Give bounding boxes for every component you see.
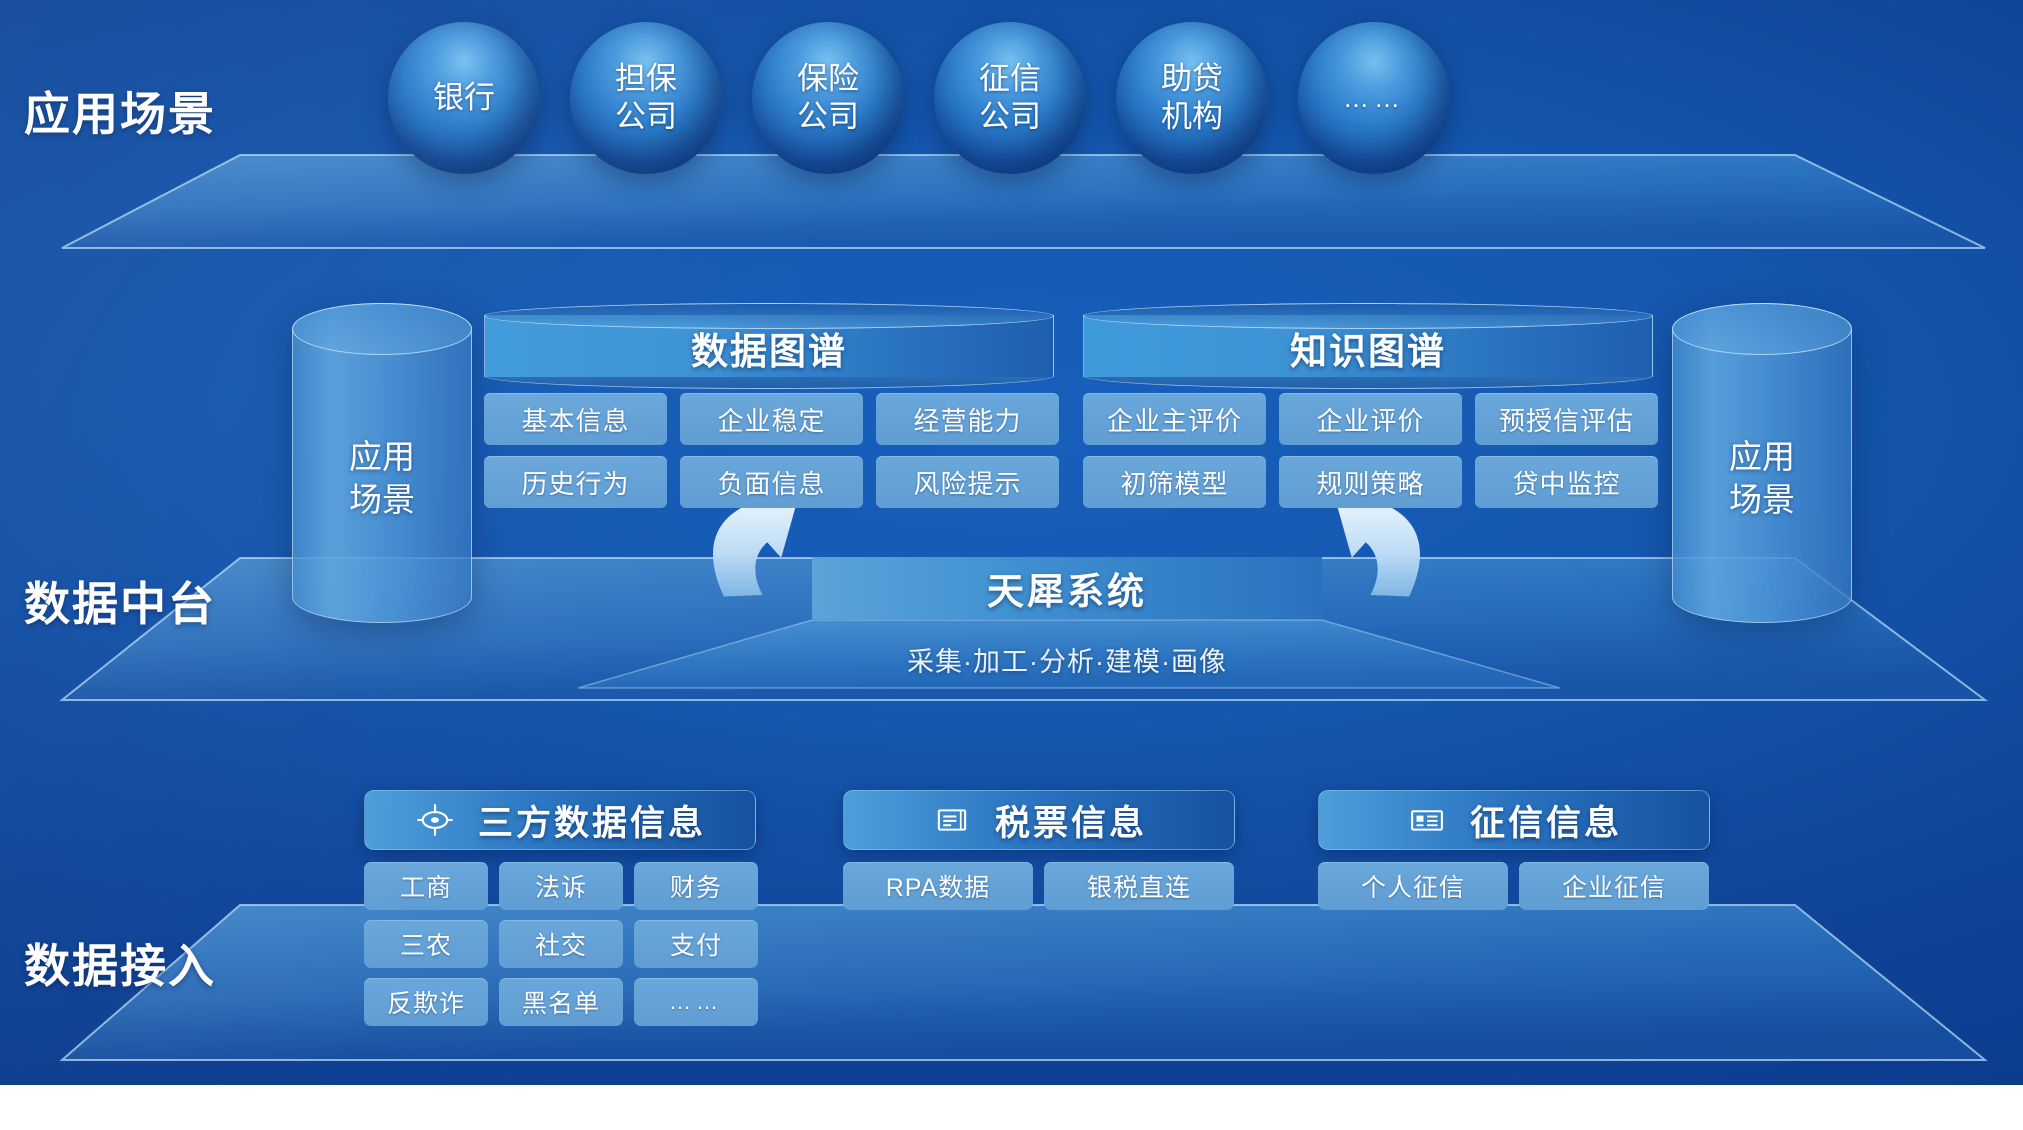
- tag-enterprise-evaluation[interactable]: 企业评价: [1279, 393, 1462, 445]
- tag-litigation[interactable]: 法诉: [499, 862, 623, 910]
- application-sphere-row: 银行 担保 公司 保险 公司 征信 公司 助贷 机构: [388, 22, 1450, 174]
- tag-finance[interactable]: 财务: [634, 862, 758, 910]
- cylinder-application-scenario-right: 应用 场景: [1672, 303, 1852, 623]
- drum-data-graph: 数据图谱: [484, 315, 1054, 377]
- source-header-third-party-data[interactable]: 三方数据信息: [364, 790, 756, 850]
- sphere-line: 机构: [1161, 98, 1223, 136]
- tag-historical-behavior[interactable]: 历史行为: [484, 456, 667, 508]
- tag-enterprise-credit[interactable]: 企业征信: [1519, 862, 1709, 910]
- section-label-middle: 数据中台: [24, 568, 216, 634]
- source-title: 征信信息: [1470, 795, 1622, 846]
- sphere-line: 公司: [615, 98, 677, 136]
- sphere-line: 公司: [979, 98, 1041, 136]
- tag-negative-info[interactable]: 负面信息: [680, 456, 863, 508]
- drum-title-data-graph: 数据图谱: [484, 321, 1054, 375]
- id-card-icon: [1406, 799, 1448, 841]
- tag-bank-tax-direct-link[interactable]: 银税直连: [1044, 862, 1234, 910]
- banner-title: 天犀系统: [987, 561, 1147, 615]
- cylinder-cap: [1672, 303, 1852, 355]
- tag-enterprise-stability[interactable]: 企业稳定: [680, 393, 863, 445]
- source-tag-grid-third-party: 工商 法诉 财务 三农 社交 支付 反欺诈 黑名单 ……: [364, 862, 756, 1026]
- tag-rpa-data[interactable]: RPA数据: [843, 862, 1033, 910]
- tag-more[interactable]: ……: [634, 978, 758, 1026]
- tag-risk-warning[interactable]: 风险提示: [876, 456, 1059, 508]
- sphere-line: 公司: [797, 98, 859, 136]
- cylinder-label-line2: 场景: [293, 479, 471, 522]
- tag-pre-credit-assessment[interactable]: 预授信评估: [1475, 393, 1658, 445]
- cylinder-label: 应用 场景: [293, 436, 471, 522]
- section-label-data-access: 数据接入: [24, 930, 216, 996]
- source-tag-grid-tax-invoice: RPA数据 银税直连: [843, 862, 1235, 910]
- tag-personal-credit[interactable]: 个人征信: [1318, 862, 1508, 910]
- sphere-line: 担保: [615, 60, 677, 98]
- cylinder-label-line1: 应用: [293, 436, 471, 479]
- tag-owner-evaluation[interactable]: 企业主评价: [1083, 393, 1266, 445]
- tag-blacklist[interactable]: 黑名单: [499, 978, 623, 1026]
- source-tag-grid-credit-report: 个人征信 企业征信: [1318, 862, 1710, 910]
- banner-subtitle: 采集·加工·分析·建模·画像: [812, 640, 1322, 679]
- sphere-line: 征信: [979, 60, 1041, 98]
- tag-business-registration[interactable]: 工商: [364, 862, 488, 910]
- cylinder-label: 应用 场景: [1673, 436, 1851, 522]
- ellipsis-label: ……: [1343, 82, 1405, 114]
- sphere-more[interactable]: ……: [1298, 22, 1450, 174]
- cylinder-application-scenario-left: 应用 场景: [292, 303, 472, 623]
- tag-anti-fraud[interactable]: 反欺诈: [364, 978, 488, 1026]
- source-group-credit-report: 征信信息 个人征信 企业征信: [1318, 790, 1710, 910]
- platform-data-access: [62, 905, 1985, 1060]
- sphere-insurance-company[interactable]: 保险 公司: [752, 22, 904, 174]
- drum-knowledge-graph: 知识图谱: [1083, 315, 1653, 377]
- cylinder-cap: [292, 303, 472, 355]
- source-group-third-party-data: 三方数据信息 工商 法诉 财务 三农 社交 支付 反欺诈 黑名单 ……: [364, 790, 756, 1026]
- tag-screening-model[interactable]: 初筛模型: [1083, 456, 1266, 508]
- target-eye-icon: [414, 799, 456, 841]
- sphere-bank[interactable]: 银行: [388, 22, 540, 174]
- diagram-canvas: 应用场景 数据中台 数据接入 银行 担保 公司 保险 公司 征信 公司: [0, 0, 2023, 1085]
- tag-rule-strategy[interactable]: 规则策略: [1279, 456, 1462, 508]
- source-title: 税票信息: [995, 795, 1147, 846]
- sphere-loan-facilitation[interactable]: 助贷 机构: [1116, 22, 1268, 174]
- tag-payment[interactable]: 支付: [634, 920, 758, 968]
- sphere-guarantee-company[interactable]: 担保 公司: [570, 22, 722, 174]
- source-group-tax-invoice: 税票信息 RPA数据 银税直连: [843, 790, 1235, 910]
- sphere-line: 银行: [433, 79, 495, 117]
- sphere-credit-company[interactable]: 征信 公司: [934, 22, 1086, 174]
- sphere-line: 助贷: [1161, 60, 1223, 98]
- tag-social[interactable]: 社交: [499, 920, 623, 968]
- drum-title-knowledge-graph: 知识图谱: [1083, 321, 1653, 375]
- tag-grid-knowledge-graph: 企业主评价 企业评价 预授信评估 初筛模型 规则策略 贷中监控: [1083, 393, 1658, 508]
- cylinder-label-line1: 应用: [1673, 436, 1851, 479]
- tag-operating-capability[interactable]: 经营能力: [876, 393, 1059, 445]
- tag-basic-info[interactable]: 基本信息: [484, 393, 667, 445]
- source-header-tax-invoice[interactable]: 税票信息: [843, 790, 1235, 850]
- source-title: 三方数据信息: [478, 795, 706, 846]
- cylinder-label-line2: 场景: [1673, 479, 1851, 522]
- banner-tianxi-system: 天犀系统: [812, 557, 1322, 619]
- tag-agriculture[interactable]: 三农: [364, 920, 488, 968]
- sphere-line: 保险: [797, 60, 859, 98]
- invoice-icon: [931, 799, 973, 841]
- source-header-credit-report[interactable]: 征信信息: [1318, 790, 1710, 850]
- section-label-application: 应用场景: [24, 78, 216, 144]
- tag-in-loan-monitoring[interactable]: 贷中监控: [1475, 456, 1658, 508]
- tag-grid-data-graph: 基本信息 企业稳定 经营能力 历史行为 负面信息 风险提示: [484, 393, 1059, 508]
